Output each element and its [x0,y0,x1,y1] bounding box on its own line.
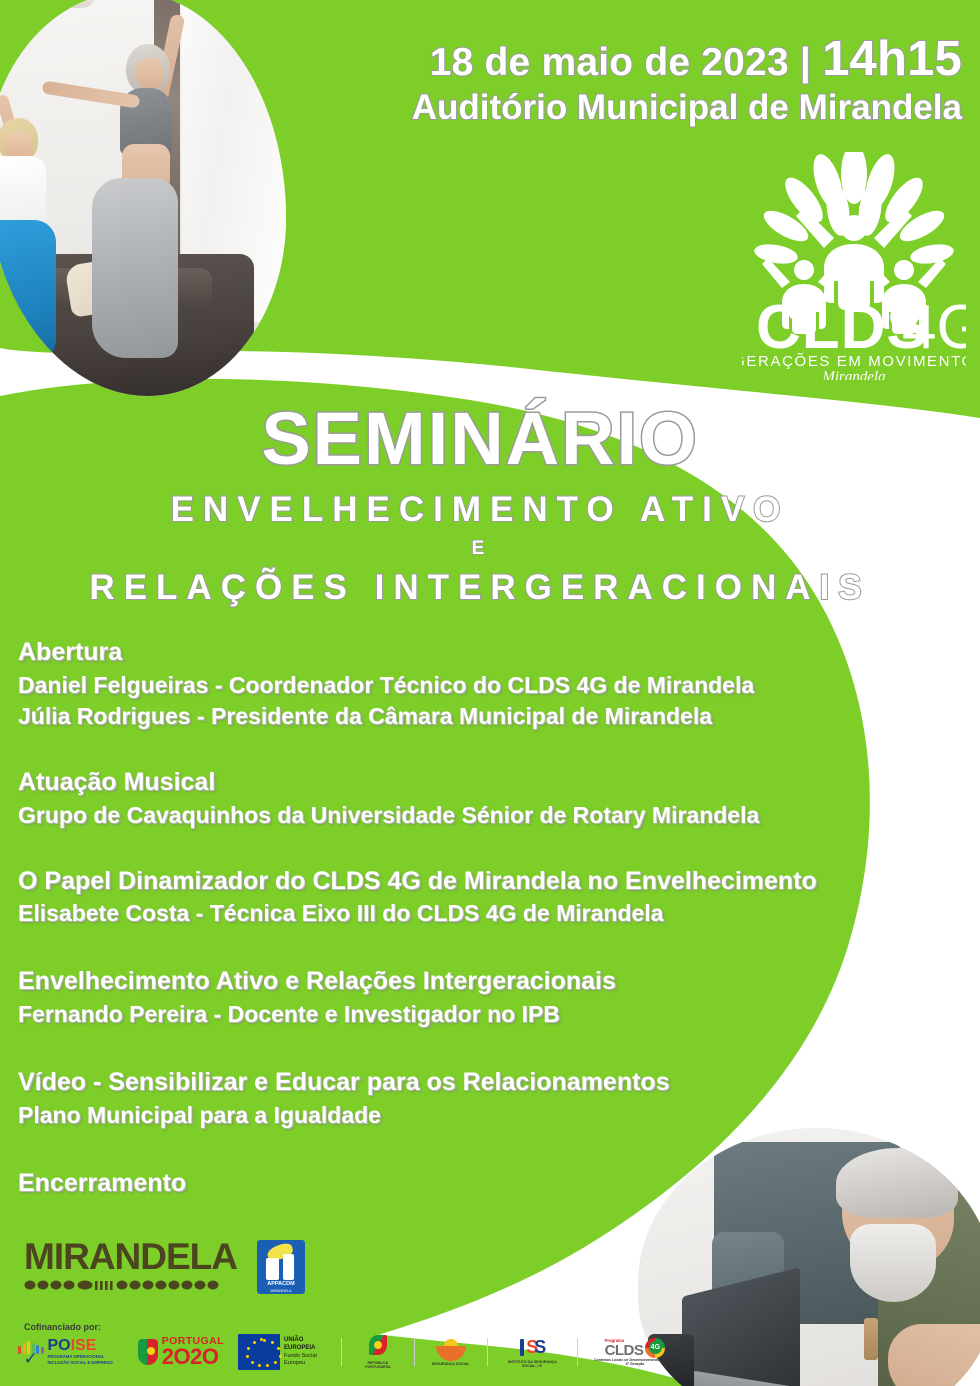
appacdm-sub: MIRANDELA [257,1289,305,1293]
cofinanced-label: Cofinanciado por: [24,1322,101,1332]
programme-item: Envelhecimento Ativo e Relações Interger… [18,965,938,1030]
subtitle-line-1: ENVELHECIMENTO ATIVO [0,490,960,530]
po-ise-check-icon: ✓ [24,1354,38,1364]
programme-list: Abertura Daniel Felgueiras - Coordenador… [18,636,938,1225]
programme-heading: Envelhecimento Ativo e Relações Interger… [18,965,938,999]
republica-portuguesa-icon [367,1335,389,1361]
programme-item: Atuação Musical Grupo de Cavaquinhos da … [18,766,938,831]
programa-4g-badge-label: 4G [649,1341,662,1354]
programa-clds-4g-icon: Programa CLDS 4G [605,1338,666,1358]
clds4g-logo-svg: CLDS 4G GERAÇÕES EM MOVIMENTO Mirandela [742,152,966,380]
programme-item: Abertura Daniel Felgueiras - Coordenador… [18,636,938,732]
portugal-shield-icon [138,1339,158,1365]
po-ise-sub: PROGRAMA OPERACIONAL INCLUSÃO SOCIAL E E… [48,1354,124,1366]
po-ise-logo: ✓ POISE PROGRAMA OPERACIONAL INCLUSÃO SO… [18,1338,124,1366]
clds4g-logo: CLDS 4G GERAÇÕES EM MOVIMENTO Mirandela [742,152,966,380]
subtitle-conjunction: E [0,538,960,560]
iss-logo: SS INSTITUTO DA SEGURANÇA SOCIAL, I.P. [501,1336,563,1369]
footer-divider [414,1338,415,1366]
programme-heading: Abertura [18,636,938,670]
poster-title-block: SEMINÁRIO ENVELHECIMENTO ATIVO E RELAÇÕE… [0,402,960,608]
subtitle-line-2: RELAÇÕES INTERGERACIONAIS [0,568,960,608]
funding-logos-strip: ✓ POISE PROGRAMA OPERACIONAL INCLUSÃO SO… [18,1334,678,1370]
portugal-2020-year: 2O2O [162,1347,224,1368]
programme-speaker: Elisabete Costa - Técnica Eixo III do CL… [18,898,938,929]
po-ise-main: PO [48,1337,71,1354]
partner-logos: MIRANDELA [24,1238,305,1296]
iss-icon: SS [517,1336,547,1360]
mirandela-wordmark: MIRANDELA [24,1238,237,1275]
clds-4g-wordmark: 4G [902,293,966,362]
clds-location: Mirandela [821,369,885,380]
clds-tagline: GERAÇÕES EM MOVIMENTO [742,353,966,370]
header-separator: | [800,41,811,84]
programme-heading: Encerramento [18,1167,938,1201]
page-title: SEMINÁRIO [0,402,960,476]
mirandela-dot-pattern [24,1278,237,1296]
poster-canvas: 18 de maio de 2023 | 14h15 Auditório Mun… [0,0,980,1386]
programa-clds-4g-caption: Contratos Locais de Desenvolvimento Soci… [592,1358,678,1367]
iss-caption: INSTITUTO DA SEGURANÇA SOCIAL, I.P. [501,1360,563,1369]
eu-line-2: Fundo Social Europeu [284,1353,327,1368]
programme-speaker: Plano Municipal para a Igualdade [18,1100,938,1131]
footer-divider [577,1338,578,1366]
event-date: 18 de maio de 2023 [430,41,789,84]
appacdm-candle-icon [266,1258,279,1280]
programme-heading: Vídeo - Sensibilizar e Educar para os Re… [18,1066,938,1100]
programa-clds-4g-logo: Programa CLDS 4G Contratos Locais de Des… [592,1338,678,1367]
programme-item: O Papel Dinamizador do CLDS 4G de Mirand… [18,865,938,930]
republica-portuguesa-caption: REPÚBLICA PORTUGUESA [356,1361,400,1370]
footer-divider [487,1338,488,1366]
event-time: 14h15 [822,32,962,86]
programme-item: Vídeo - Sensibilizar e Educar para os Re… [18,1066,938,1131]
programa-4g-badge: 4G [645,1338,665,1358]
programme-speaker: Grupo de Cavaquinhos da Universidade Sén… [18,800,938,831]
event-venue: Auditório Municipal de Mirandela [0,87,962,129]
event-header: 18 de maio de 2023 | 14h15 Auditório Mun… [0,34,962,129]
event-datetime-line: 18 de maio de 2023 | 14h15 [0,34,962,85]
uniao-europeia-logo: UNIÃO EUROPEIA Fundo Social Europeu [238,1334,327,1370]
programme-speaker: Júlia Rodrigues - Presidente da Câmara M… [18,701,938,732]
republica-portuguesa-logo: REPÚBLICA PORTUGUESA [356,1335,400,1370]
po-ise-wordmark: POISE [48,1338,124,1354]
footer-divider [341,1338,342,1366]
programme-heading: Atuação Musical [18,766,938,800]
po-ise-accent: ISE [71,1337,97,1354]
programme-item: Encerramento [18,1167,938,1201]
seguranca-social-caption: SEGURANÇA SOCIAL [429,1362,473,1366]
eu-line-1: UNIÃO EUROPEIA [284,1337,327,1353]
portugal-2020-logo: PORTUGAL 2O2O [138,1336,224,1367]
seguranca-social-icon [434,1338,468,1362]
programme-heading: O Papel Dinamizador do CLDS 4G de Mirand… [18,865,938,899]
programme-speaker: Fernando Pereira - Docente e Investigado… [18,999,938,1030]
appacdm-candle-icon [283,1254,294,1280]
programa-clds-wordmark: CLDS [605,1343,644,1358]
eu-flag-icon [238,1334,280,1370]
programme-speaker: Daniel Felgueiras - Coordenador Técnico … [18,670,938,701]
appacdm-logo: APPACDM MIRANDELA [257,1240,305,1294]
appacdm-name: APPACDM [257,1281,305,1287]
mirandela-logo: MIRANDELA [24,1238,237,1296]
seguranca-social-logo: SEGURANÇA SOCIAL [429,1338,473,1366]
